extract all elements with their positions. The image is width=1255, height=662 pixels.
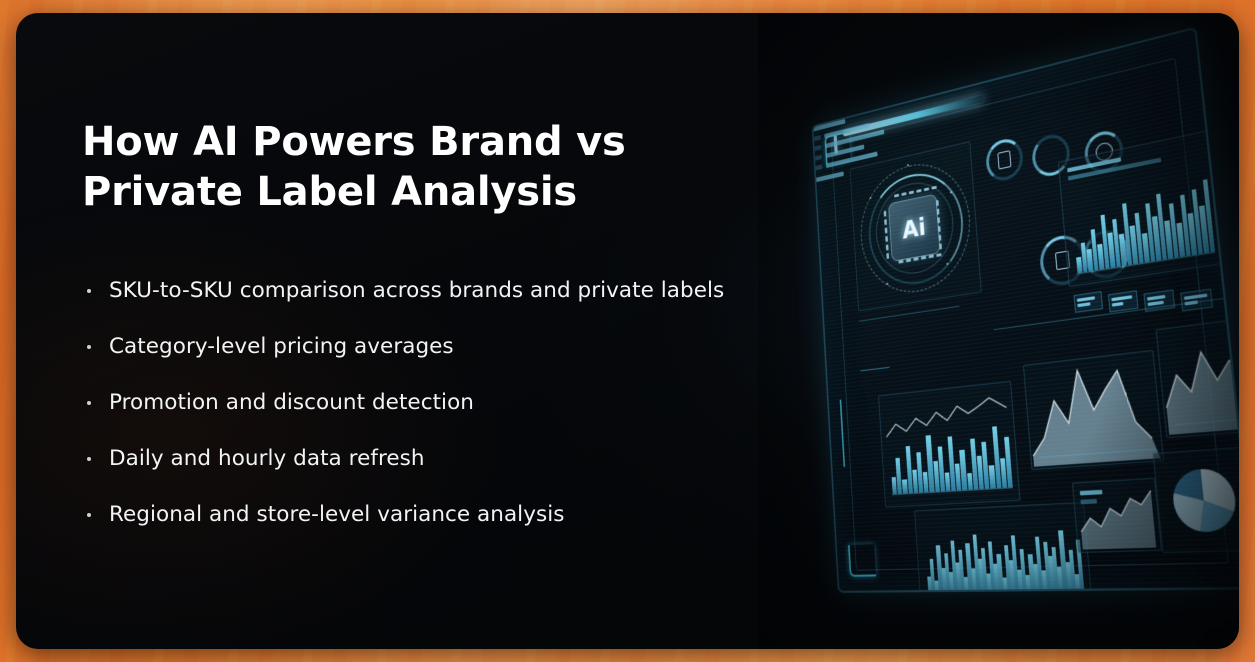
ai-chip-icon: Ai (888, 194, 941, 262)
text-column: How AI Powers Brand vs Private Label Ana… (82, 117, 782, 530)
status-ring-nested-icon[interactable] (1083, 128, 1125, 176)
kpi-tile (1108, 290, 1139, 312)
device-glyph-icon (1055, 250, 1070, 270)
bar-series (889, 418, 1013, 494)
panel-mini-trend-chart (1072, 478, 1162, 553)
panel-trend-area-right (1156, 312, 1239, 438)
monitor-screen: Ai (812, 26, 1239, 592)
bar-series (924, 523, 1085, 593)
page-title: How AI Powers Brand vs Private Label Ana… (82, 117, 642, 218)
status-ring-progress-icon[interactable] (1082, 227, 1131, 282)
x-axis-line (1077, 252, 1216, 275)
legend-row (1080, 490, 1103, 496)
x-axis-line (1039, 448, 1155, 457)
corner-bracket-bottom-left-icon (848, 544, 876, 577)
list-row-marker (813, 125, 821, 131)
list-item: SKU-to-SKU comparison across brands and … (82, 276, 769, 306)
kpi-tile (1180, 288, 1213, 311)
panel-refresh-dense-bar-chart (914, 502, 1093, 593)
hud-accent-line (840, 400, 845, 467)
pie-series (1166, 462, 1239, 537)
panel-share-pie-chart (1153, 443, 1239, 553)
panel-price-combo-chart (878, 381, 1020, 508)
x-axis-line (1175, 414, 1239, 425)
legend-row (1080, 499, 1097, 504)
area-series (1024, 351, 1163, 469)
list-row-marker (814, 145, 821, 151)
slide-root: How AI Powers Brand vs Private Label Ana… (0, 0, 1255, 662)
monitor-wrapper: Ai (788, 71, 1218, 571)
list-item: Promotion and discount detection (82, 388, 769, 418)
kpi-tile (1073, 291, 1103, 313)
tile-header-bar (1067, 157, 1121, 172)
tile-subheader-bar (1068, 158, 1161, 181)
feature-bullet-list: SKU-to-SKU comparison across brands and … (82, 276, 782, 530)
monitor-3d: Ai (812, 26, 1239, 592)
area-series (1157, 313, 1239, 437)
list-row-marker (815, 164, 822, 170)
bar-series (1071, 170, 1215, 273)
ai-chip-label: Ai (901, 214, 926, 242)
document-glyph-icon (997, 150, 1011, 169)
list-item: Regional and store-level variance analys… (82, 500, 769, 530)
kpi-tile (1143, 289, 1175, 312)
content-card: How AI Powers Brand vs Private Label Ana… (16, 13, 1239, 649)
list-row-marker (815, 155, 822, 161)
dashboard-illustration: Ai (758, 13, 1239, 649)
list-item: Category-level pricing averages (82, 332, 769, 362)
panel-trend-area-center (1023, 350, 1164, 470)
list-item: Daily and hourly data refresh (82, 444, 769, 474)
area-series (1073, 479, 1161, 552)
circle-glyph-icon (1094, 141, 1113, 162)
panel-ai-core-module: Ai (850, 141, 982, 311)
list-row-marker (814, 135, 821, 141)
